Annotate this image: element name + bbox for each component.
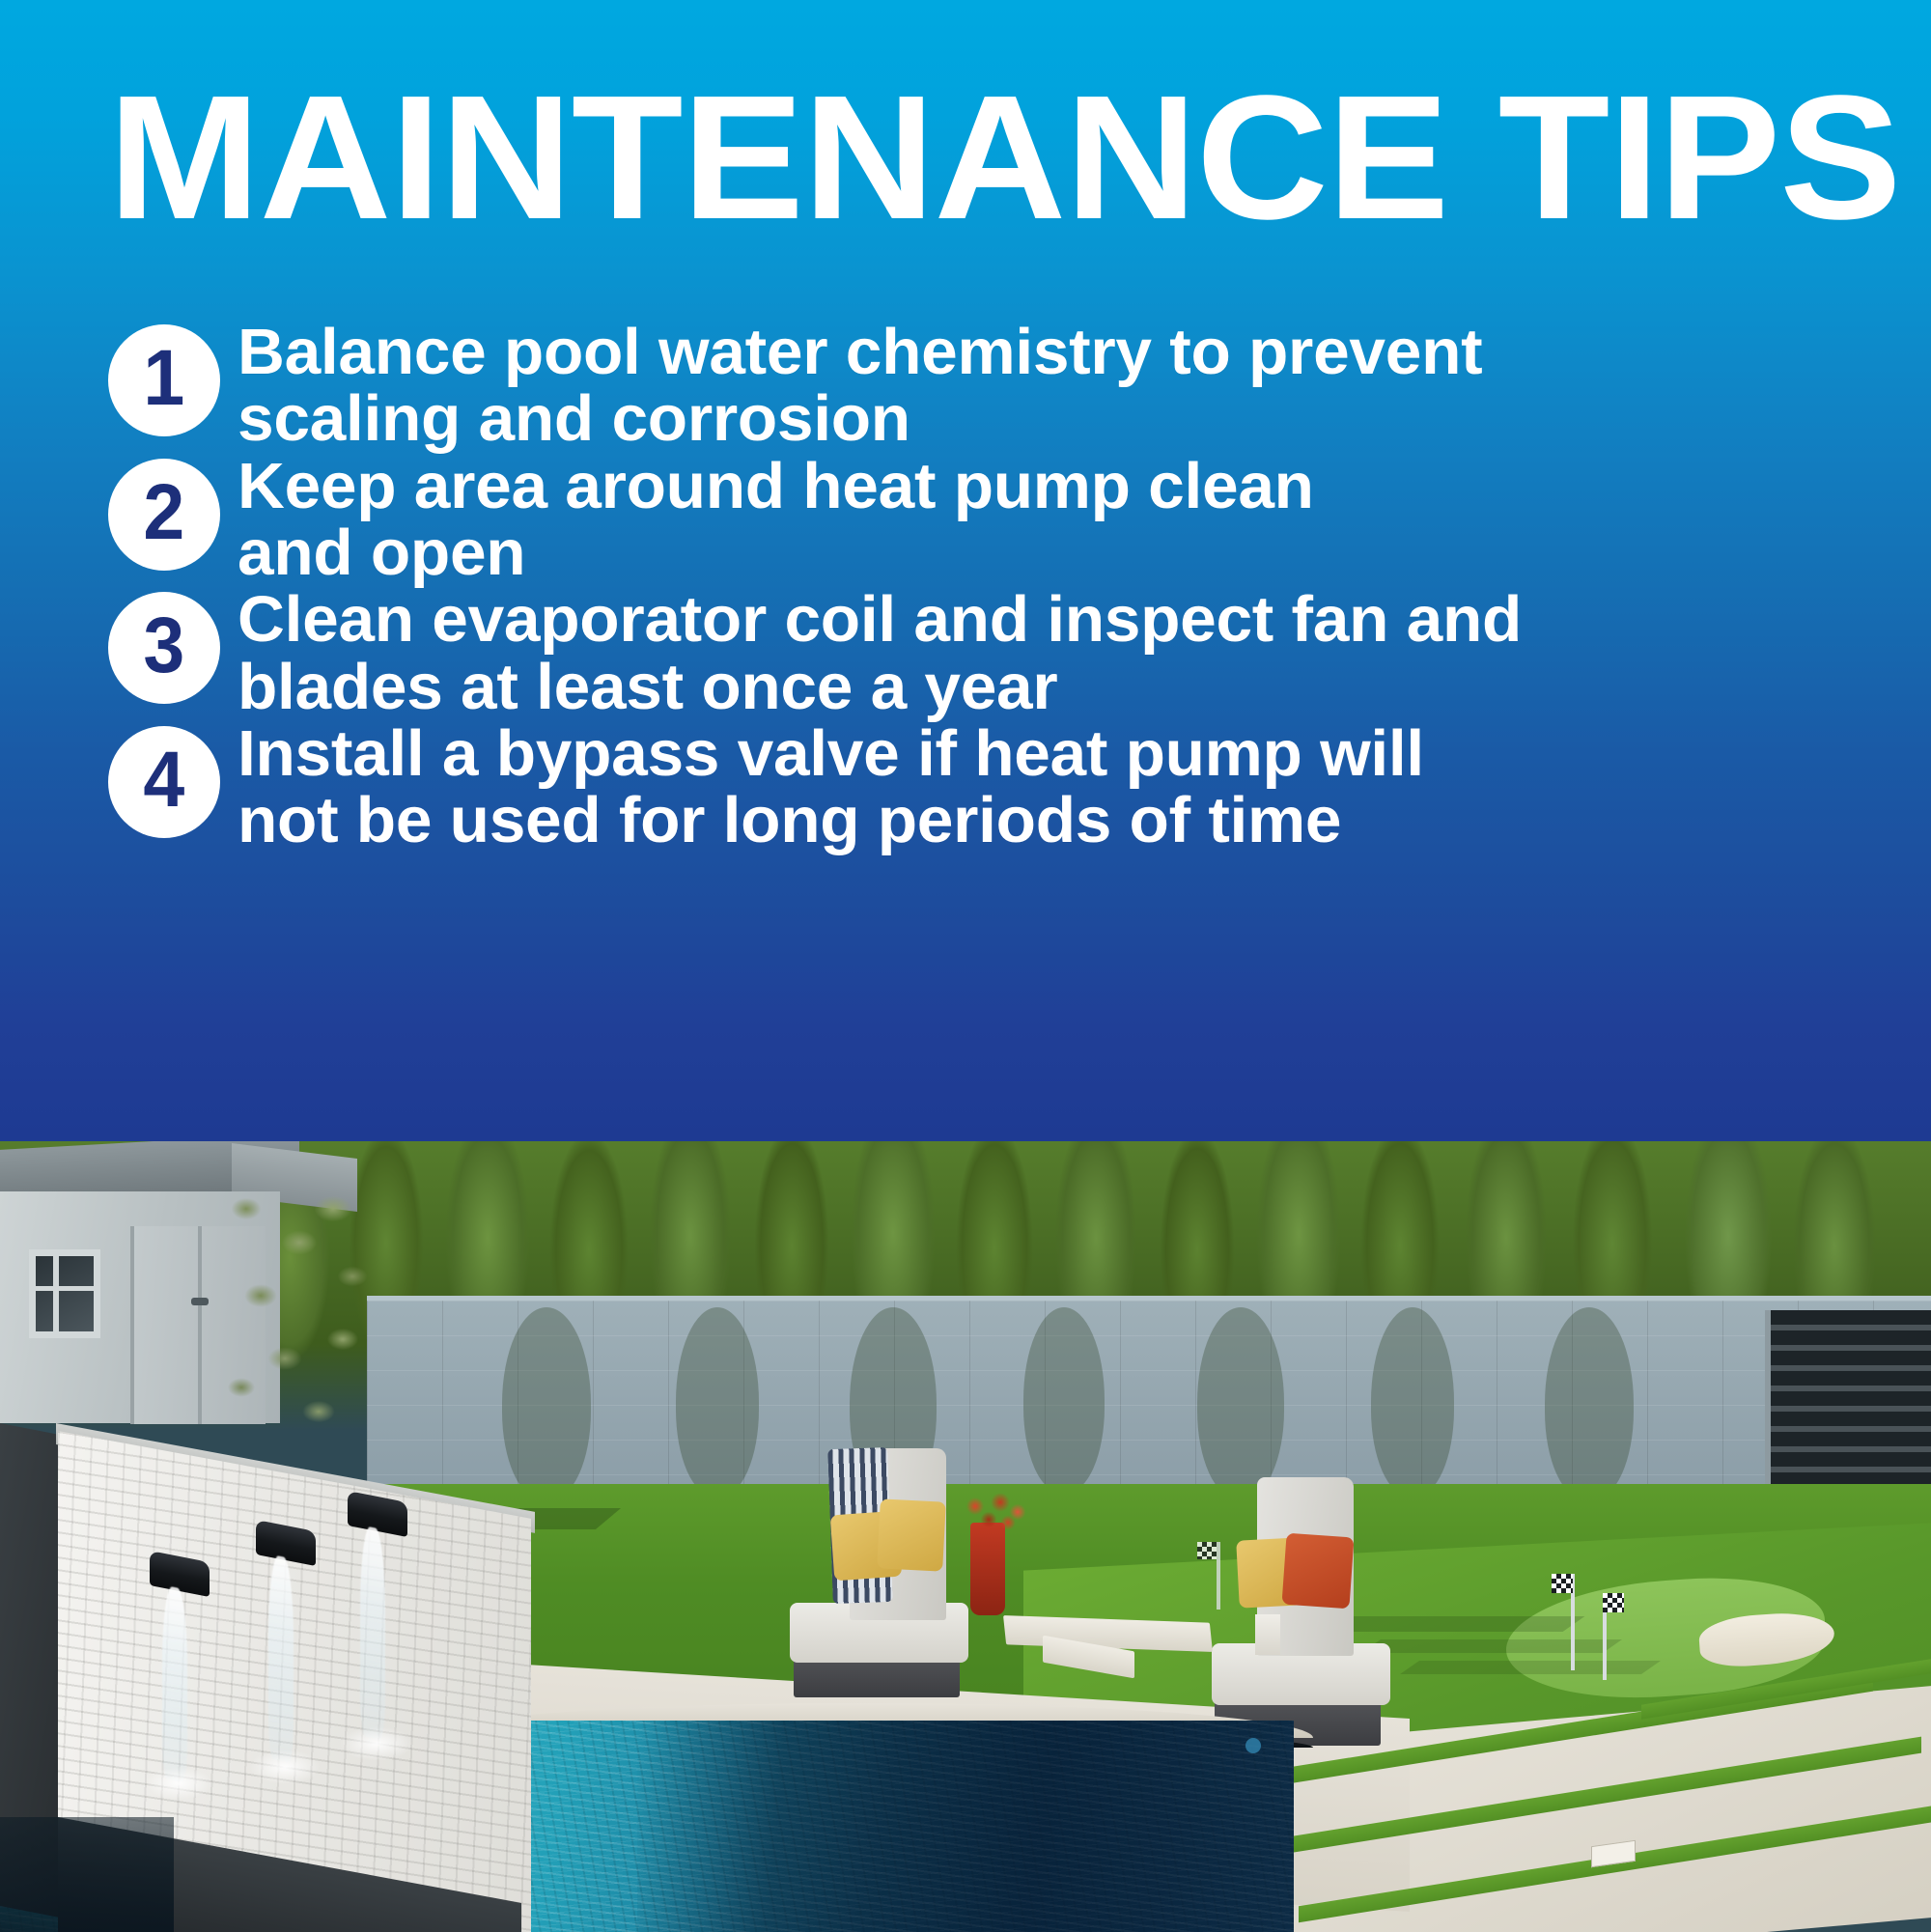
water-splash <box>145 1767 212 1800</box>
golf-flag <box>1552 1574 1573 1593</box>
badge-wrap: 2 <box>0 453 238 571</box>
shed-handle <box>191 1298 209 1305</box>
tip-text: Clean evaporator coil and inspect fan an… <box>238 586 1931 720</box>
tip-line-2: blades at least once a year <box>238 654 1889 720</box>
maintenance-tips-poster: MAINTENANCE TIPS 1 Balance pool water ch… <box>0 0 1931 1932</box>
tip-line-2: scaling and corrosion <box>238 385 1889 452</box>
number-badge: 2 <box>108 459 220 571</box>
tip-line-1: Clean evaporator coil and inspect fan an… <box>238 586 1889 653</box>
tip-text: Keep area around heat pump clean and ope… <box>238 453 1931 587</box>
olive-tree <box>208 1170 410 1441</box>
tip-text: Install a bypass valve if heat pump will… <box>238 720 1931 854</box>
tip-line-2: and open <box>238 519 1889 586</box>
tree-shadow <box>1371 1307 1454 1497</box>
number-badge: 3 <box>108 592 220 704</box>
tree-shadow <box>502 1307 591 1500</box>
tips-list: 1 Balance pool water chemistry to preven… <box>0 319 1931 854</box>
golf-flag <box>1197 1542 1217 1559</box>
tips-panel: MAINTENANCE TIPS 1 Balance pool water ch… <box>0 0 1931 1141</box>
number-badge: 4 <box>108 726 220 838</box>
badge-number: 1 <box>144 339 185 418</box>
tip-line-1: Install a bypass valve if heat pump will <box>238 720 1889 787</box>
list-item: 3 Clean evaporator coil and inspect fan … <box>0 586 1931 720</box>
badge-number: 3 <box>144 606 185 686</box>
block-wall <box>367 1301 1931 1508</box>
list-item: 4 Install a bypass valve if heat pump wi… <box>0 720 1931 854</box>
lawn-shadow <box>1361 1639 1622 1653</box>
golf-flag <box>1603 1593 1624 1612</box>
shed-door-seam <box>198 1226 202 1424</box>
number-badge: 1 <box>108 324 220 436</box>
flower-pot <box>970 1523 1005 1615</box>
lawn-shadow <box>1322 1616 1585 1632</box>
waterfall-stream <box>162 1584 187 1782</box>
water-splash <box>249 1750 321 1784</box>
badge-wrap: 1 <box>0 319 238 436</box>
tree-shadow <box>676 1307 759 1497</box>
golf-flag-pole <box>1217 1542 1220 1610</box>
lawn-shadow <box>1400 1661 1661 1674</box>
tree-shadow <box>1545 1307 1634 1500</box>
tree-shadow <box>1023 1307 1105 1493</box>
side-table <box>1255 1614 1280 1655</box>
pillow-red <box>1282 1533 1355 1610</box>
page-title: MAINTENANCE TIPS <box>108 75 1907 239</box>
tree-shadow <box>1197 1307 1284 1498</box>
water-splash <box>340 1726 413 1761</box>
water-shadow <box>637 1721 1294 1932</box>
badge-number: 4 <box>144 741 185 820</box>
badge-wrap: 4 <box>0 720 238 838</box>
list-item: 2 Keep area around heat pump clean and o… <box>0 453 1931 587</box>
waterfall-stream <box>360 1525 385 1740</box>
flowers <box>958 1491 1033 1535</box>
tip-text: Balance pool water chemistry to prevent … <box>238 319 1931 453</box>
shed-window-rail <box>29 1286 100 1291</box>
badge-number: 2 <box>144 473 185 552</box>
pool-fitting <box>1245 1738 1261 1753</box>
pool-photo <box>0 1141 1931 1932</box>
tip-line-1: Balance pool water chemistry to prevent <box>238 319 1889 385</box>
waterfall-stream <box>268 1554 294 1763</box>
tip-line-1: Keep area around heat pump clean <box>238 453 1889 519</box>
shed-window <box>29 1249 100 1338</box>
shed-window-mullion <box>53 1249 59 1338</box>
tip-line-2: not be used for long periods of time <box>238 787 1889 854</box>
badge-wrap: 3 <box>0 586 238 704</box>
pillow-gold <box>877 1498 946 1571</box>
foreground-shadow <box>0 1817 174 1932</box>
list-item: 1 Balance pool water chemistry to preven… <box>0 319 1931 453</box>
